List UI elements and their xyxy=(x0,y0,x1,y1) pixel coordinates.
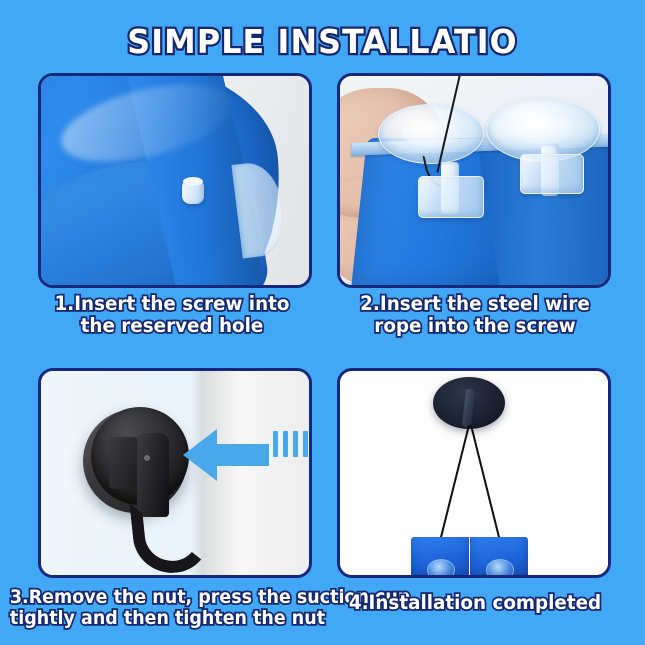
step-1-caption: 1.Insert the screw into the reserved hol… xyxy=(31,293,313,337)
caption-line: 1.Insert the screw into xyxy=(31,293,313,315)
step-3-caption: 3.Remove the nut, press the suction cup … xyxy=(10,588,320,630)
caption-line: 3.Remove the nut, press the suction cup xyxy=(10,588,320,609)
motion-stripe xyxy=(303,431,308,457)
push-arrow-icon xyxy=(183,427,269,483)
step-1-illustration xyxy=(41,76,309,285)
suction-cup-icon xyxy=(427,559,455,575)
step-2-image-panel xyxy=(337,73,611,288)
clear-nut-icon xyxy=(520,154,584,194)
step-1-image-panel xyxy=(38,73,312,288)
motion-stripe xyxy=(273,431,278,457)
motion-stripe xyxy=(283,431,288,457)
step-3-image-panel xyxy=(38,368,312,578)
step-4-caption: 4.Installation completed xyxy=(334,592,616,614)
caption-line: tightly and then tighten the nut xyxy=(10,609,320,630)
suction-cup-icon xyxy=(486,559,514,575)
caption-line: 4.Installation completed xyxy=(334,592,616,614)
installation-infographic: SIMPLE INSTALLATIO xyxy=(0,0,645,645)
screw-dot xyxy=(144,455,150,461)
caption-line: 2.Insert the steel wire xyxy=(334,293,616,315)
cup-lever-tab xyxy=(109,437,139,489)
step-2-caption: 2.Insert the steel wire rope into the sc… xyxy=(334,293,616,337)
step-4-image-panel xyxy=(337,368,611,578)
page-title: SIMPLE INSTALLATIO xyxy=(13,22,632,61)
step-3-illustration xyxy=(41,371,309,575)
step-2-illustration xyxy=(340,76,608,285)
clear-nut-icon xyxy=(418,176,484,218)
white-screw-icon xyxy=(182,180,204,204)
step-4-illustration xyxy=(340,371,608,575)
motion-stripe xyxy=(293,431,298,457)
caption-line: the reserved hole xyxy=(31,315,313,337)
caption-line: rope into the screw xyxy=(334,315,616,337)
